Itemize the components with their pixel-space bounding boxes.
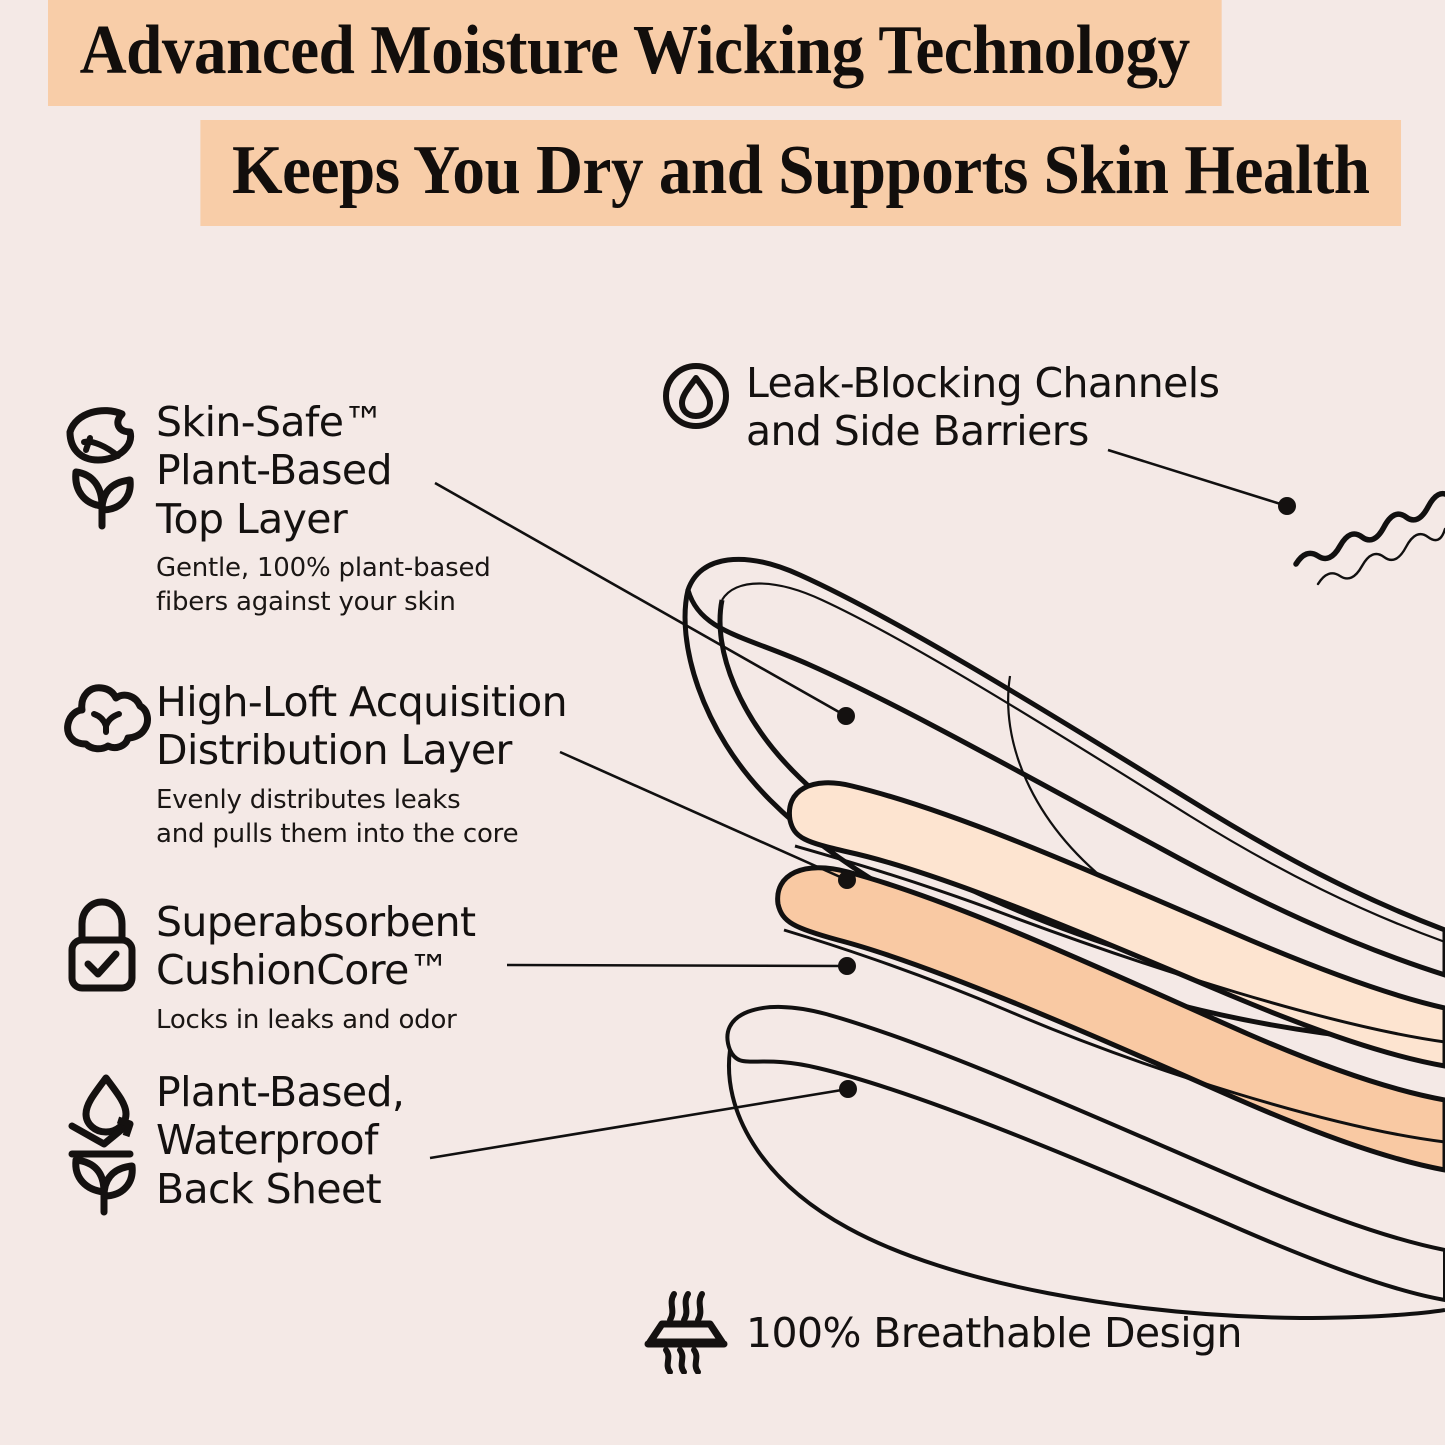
headline-line-2: Keeps You Dry and Supports Skin Health bbox=[200, 120, 1401, 226]
water-repel-leaf-icon bbox=[60, 1068, 156, 1216]
headline-row-2: Keeps You Dry and Supports Skin Health bbox=[0, 120, 1445, 226]
feature-title: Superabsorbent CushionCore™ bbox=[156, 898, 620, 995]
dot-adl bbox=[838, 871, 856, 889]
dot-back-sheet bbox=[839, 1080, 857, 1098]
droplet-in-circle-icon bbox=[660, 360, 746, 436]
feature-subtitle: Locks in leaks and odor bbox=[156, 1004, 620, 1038]
feature-title: Skin-Safe™ Plant-Based Top Layer bbox=[156, 398, 580, 543]
core-layer-inner-line bbox=[784, 930, 1445, 1142]
feature-breathable: 100% Breathable Design bbox=[640, 1288, 1242, 1378]
topsheet-secondary-curve bbox=[1008, 676, 1445, 1016]
dot-core bbox=[838, 957, 856, 975]
backsheet-outline bbox=[727, 1007, 1445, 1300]
dot-leak-barriers bbox=[1278, 497, 1296, 515]
feature-text-back-sheet: Plant-Based, Waterproof Back Sheet bbox=[156, 1068, 540, 1213]
headline-line-1: Advanced Moisture Wicking Technology bbox=[48, 0, 1221, 106]
feature-subtitle: Evenly distributes leaks and pulls them … bbox=[156, 784, 660, 852]
dot-top-layer bbox=[837, 707, 855, 725]
feature-core: Superabsorbent CushionCore™ Locks in lea… bbox=[60, 898, 620, 1038]
headline-gap bbox=[0, 106, 1445, 120]
infographic-root: Advanced Moisture Wicking Technology Kee… bbox=[0, 0, 1445, 1445]
feature-title: Plant-Based, Waterproof Back Sheet bbox=[156, 1068, 540, 1213]
feature-adl: High-Loft Acquisition Distribution Layer… bbox=[60, 678, 660, 851]
leader-line-leak bbox=[1108, 450, 1287, 506]
lock-check-icon bbox=[60, 898, 156, 994]
topsheet-lower-edge bbox=[685, 590, 1445, 1042]
feature-subtitle: Gentle, 100% plant-based fibers against … bbox=[156, 552, 580, 620]
backsheet-lower-curve bbox=[729, 1050, 1445, 1318]
feature-text-core: Superabsorbent CushionCore™ Locks in lea… bbox=[156, 898, 620, 1038]
feature-back-sheet: Plant-Based, Waterproof Back Sheet bbox=[60, 1068, 540, 1216]
feature-text-top-layer: Skin-Safe™ Plant-Based Top Layer Gentle,… bbox=[156, 398, 580, 620]
side-barrier-wave-outer bbox=[1296, 494, 1445, 564]
feature-title: High-Loft Acquisition Distribution Layer bbox=[156, 678, 660, 775]
side-barrier-wave-inner bbox=[1318, 529, 1445, 584]
cloud-icon bbox=[60, 678, 156, 758]
breathable-airflow-icon bbox=[640, 1288, 746, 1378]
feature-top-layer: Skin-Safe™ Plant-Based Top Layer Gentle,… bbox=[60, 398, 580, 620]
feature-title: Leak-Blocking Channels and Side Barriers bbox=[746, 360, 1219, 455]
core-layer-shape bbox=[778, 868, 1445, 1170]
headline-block: Advanced Moisture Wicking Technology Kee… bbox=[0, 0, 1445, 226]
callout-dot-group bbox=[837, 497, 1296, 1098]
adl-layer-shape bbox=[789, 783, 1445, 1066]
feature-leak-blocking: Leak-Blocking Channels and Side Barriers bbox=[660, 360, 1219, 455]
feature-title: 100% Breathable Design bbox=[746, 1309, 1242, 1357]
leaf-icon bbox=[60, 398, 156, 530]
topsheet-inner-line bbox=[722, 584, 1445, 943]
adl-layer-inner-line bbox=[795, 846, 1445, 1042]
headline-row-1: Advanced Moisture Wicking Technology bbox=[0, 0, 1445, 106]
feature-text-adl: High-Loft Acquisition Distribution Layer… bbox=[156, 678, 660, 851]
topsheet-outline bbox=[688, 559, 1445, 975]
